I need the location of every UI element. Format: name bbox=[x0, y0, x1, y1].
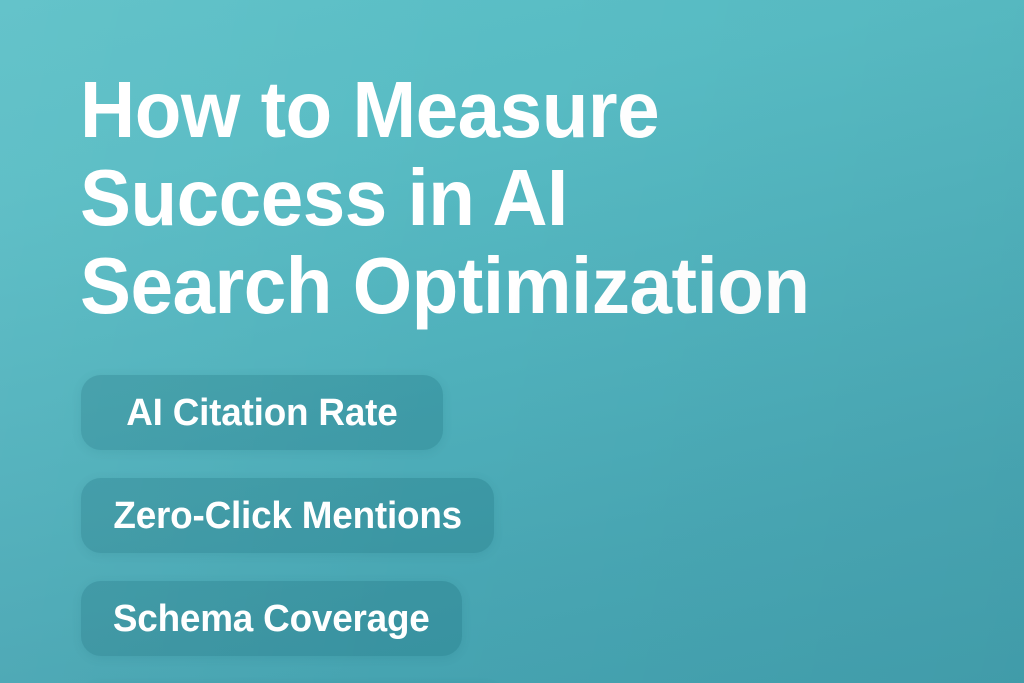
metric-pill-ai-citation-rate[interactable]: AI Citation Rate bbox=[81, 375, 443, 450]
metric-pill-label: AI Citation Rate bbox=[126, 394, 397, 432]
page-title: How to Measure Success in AI Search Opti… bbox=[80, 66, 873, 330]
metric-pill-label: Schema Coverage bbox=[113, 600, 430, 638]
metric-pill-zero-click-mentions[interactable]: Zero-Click Mentions bbox=[81, 478, 494, 553]
metric-pill-label: Zero-Click Mentions bbox=[113, 497, 462, 535]
metric-pill-schema-coverage[interactable]: Schema Coverage bbox=[81, 581, 462, 656]
slide-canvas: How to Measure Success in AI Search Opti… bbox=[0, 0, 1024, 683]
metrics-pill-grid: AI Citation Rate Zero-Click Mentions Sch… bbox=[81, 375, 887, 683]
